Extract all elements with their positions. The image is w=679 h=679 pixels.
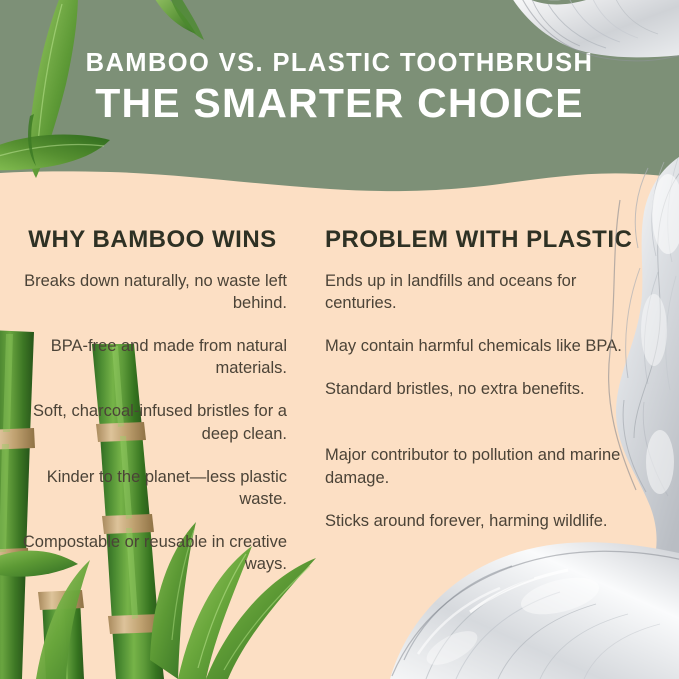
bamboo-point-1: Breaks down naturally, no waste left beh… [22, 270, 287, 314]
bamboo-stalk-c [38, 590, 84, 679]
content-columns: WHY BAMBOO WINS Breaks down naturally, n… [0, 228, 679, 575]
column-title-plastic: PROBLEM WITH PLASTIC [325, 228, 645, 252]
column-plastic: PROBLEM WITH PLASTIC Ends up in landfill… [305, 228, 679, 532]
bamboo-leaf-lower-3 [206, 558, 316, 679]
bamboo-leaf-lower-2 [178, 546, 252, 679]
bamboo-leaf-lower-1 [150, 522, 196, 679]
plastic-wrap-right-edge [609, 150, 679, 582]
plastic-point-3: Standard bristles, no extra benefits. [325, 378, 645, 400]
column-title-bamboo: WHY BAMBOO WINS [22, 228, 287, 252]
plastic-point-4: Major contributor to pollution and marin… [325, 444, 645, 488]
plastic-point-1: Ends up in landfills and oceans for cent… [325, 270, 645, 314]
bamboo-point-5: Compostable or reusable in creative ways… [22, 531, 287, 575]
bamboo-leaf-mid [0, 551, 78, 577]
bamboo-leaf-lower-4 [36, 560, 90, 679]
bamboo-stalk-a [92, 344, 164, 679]
bamboo-stalk-b [0, 330, 35, 679]
infographic-poster: BAMBOO VS. PLASTIC TOOTHBRUSH THE SMARTE… [0, 0, 679, 679]
plastic-wrap-bottom-right [390, 542, 679, 679]
bamboo-point-3: Soft, charcoal-infused bristles for a de… [22, 400, 287, 444]
plastic-point-2: May contain harmful chemicals like BPA. [325, 335, 645, 357]
plastic-point-5: Sticks around forever, harming wildlife. [325, 510, 645, 532]
header-band [0, 0, 679, 200]
column-bamboo: WHY BAMBOO WINS Breaks down naturally, n… [0, 228, 305, 575]
bamboo-point-4: Kinder to the planet—less plastic waste. [22, 466, 287, 510]
bamboo-point-2: BPA-free and made from natural materials… [22, 335, 287, 379]
